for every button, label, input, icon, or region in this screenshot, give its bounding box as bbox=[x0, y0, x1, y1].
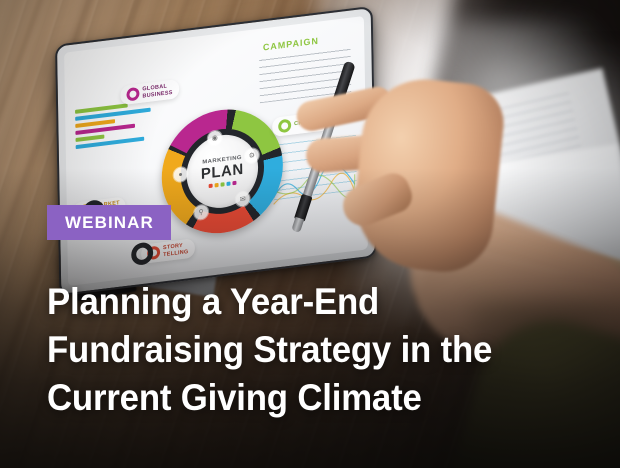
tag-label: GLOBAL BUSINESS bbox=[142, 83, 173, 99]
title-line-2: Fundraising Strategy in the bbox=[47, 326, 492, 374]
infographic-tag-global-business: GLOBAL BUSINESS bbox=[120, 79, 178, 105]
title-line-1: Planning a Year-End bbox=[47, 278, 492, 326]
webinar-badge: WEBINAR bbox=[47, 205, 171, 240]
ring-icon-creative bbox=[278, 119, 291, 134]
wheel-hub-dots bbox=[209, 180, 237, 187]
webinar-promo-card: CAMPAIGN bbox=[0, 0, 620, 468]
tag-label: STORY TELLING bbox=[163, 242, 189, 258]
title-line-3: Current Giving Climate bbox=[47, 374, 492, 422]
ring-icon-global bbox=[126, 87, 139, 102]
infographic-headline: CAMPAIGN bbox=[263, 36, 319, 53]
person-hand bbox=[296, 84, 486, 284]
page-title: Planning a Year-End Fundraising Strategy… bbox=[47, 278, 492, 422]
infographic-bar-chart bbox=[75, 99, 161, 166]
